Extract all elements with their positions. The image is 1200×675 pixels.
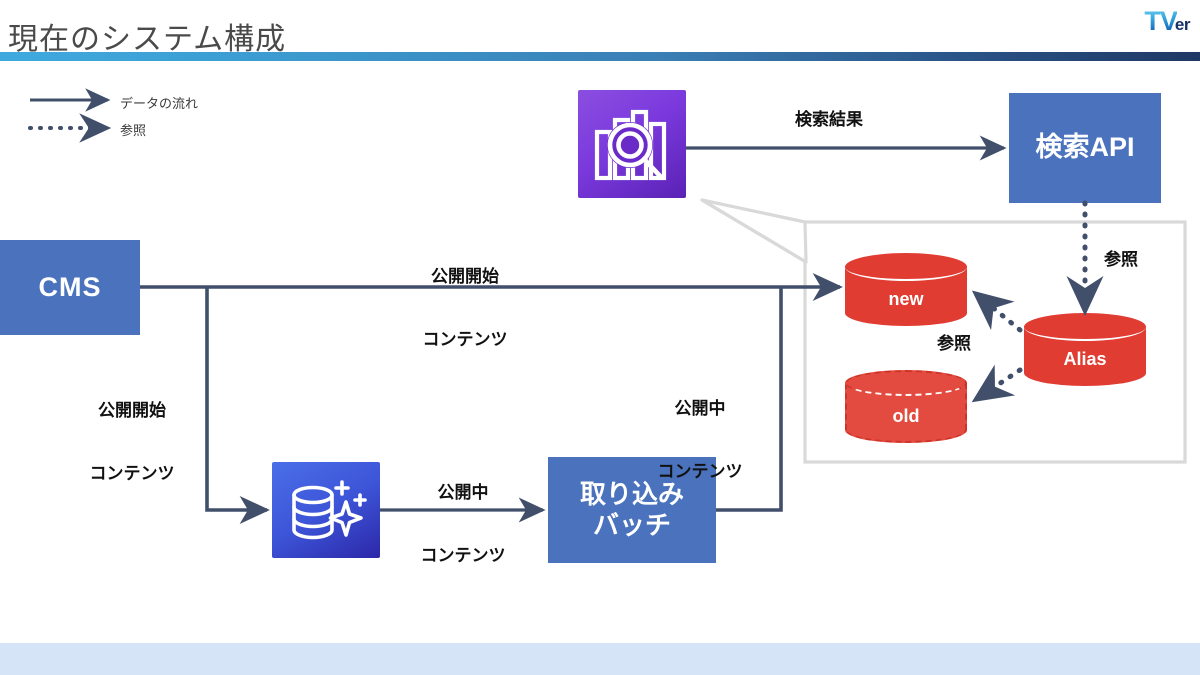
edge-label-line1: 公開開始 [400,267,530,288]
edge-label-published-mid: 公開中 コンテンツ [398,442,528,608]
index-new-label: new [845,289,967,310]
index-alias-label: Alias [1024,349,1146,370]
index-old-label: old [845,406,967,427]
edge-label-line2: コンテンツ [400,330,530,351]
edge-label-line1: 公開中 [398,483,528,504]
edge-alias-to-index-new-reference [975,293,1020,330]
edge-label-search-result: 検索結果 [795,110,863,131]
edge-label-published-right: 公開中 コンテンツ [635,358,765,524]
edge-label-line2: コンテンツ [67,464,197,485]
edge-alias-to-index-old-reference [975,370,1020,400]
edge-label-reference-api-alias: 参照 [1104,250,1138,271]
edge-label-line1: 公開中 [635,399,765,420]
slide-canvas: 現在のシステム構成 TVer データの流れ 参照 CMS 検索API 取り込み … [0,0,1200,675]
edge-label-line2: コンテンツ [398,546,528,567]
edge-label-reference-alias-index: 参照 [937,334,971,355]
edge-label-line1: 公開開始 [67,401,197,422]
edge-label-publish-start-left: 公開開始 コンテンツ [67,360,197,526]
edge-label-publish-start-top: 公開開始 コンテンツ [400,226,530,392]
edge-label-line2: コンテンツ [635,462,765,483]
connector-layer [0,0,1200,675]
edge-cms-to-glue [207,287,267,510]
footer-band [0,643,1200,675]
